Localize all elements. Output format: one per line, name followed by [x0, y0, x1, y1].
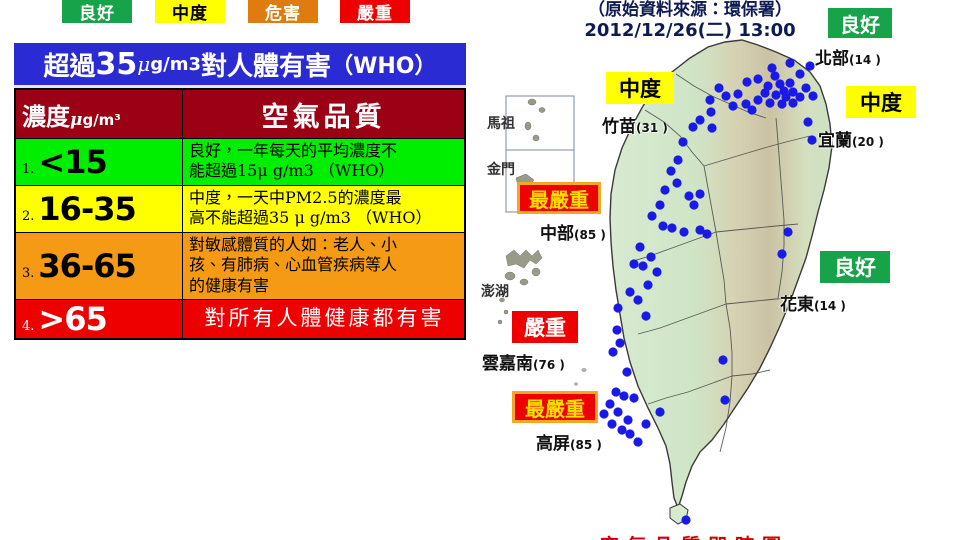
station-dot — [635, 242, 644, 251]
station-dot — [765, 98, 774, 107]
who-threshold-banner: 超過35μg/m3對人體有害（WHO） — [14, 43, 466, 88]
station-dot — [619, 391, 628, 400]
pm25-scale-table: 濃度μg/m³ 空氣品質 1.<15 良好，一年每天的平均濃度不 能超過15μ … — [14, 88, 466, 340]
station-dot — [777, 249, 786, 258]
station-dot — [803, 117, 812, 126]
region-label-huadong: 花東(14 ) — [780, 290, 846, 315]
region-name: 中部 — [540, 224, 574, 244]
table-row: 3.36-65 對敏感體質的人如：老人、小 孩、有肺病、心血管疾病等人 的健康有… — [15, 232, 465, 299]
row-desc-line: 中度，一天中PM2.5的濃度最 — [189, 188, 460, 208]
banner-threshold: 35 — [96, 47, 138, 82]
station-dot — [607, 419, 616, 428]
station-dot — [770, 71, 779, 80]
station-dot — [805, 61, 814, 70]
taiwan-island-shape — [610, 40, 832, 508]
station-dot — [733, 89, 742, 98]
legend-badge-harmful: 危害 — [248, 0, 318, 23]
callout-kaoping-status: 最嚴重 — [512, 391, 598, 423]
row-rank: 4. — [22, 319, 34, 334]
legend-badge-moderate: 中度 — [155, 0, 225, 23]
station-dot — [684, 191, 693, 200]
bottom-clipped-caption: 空氣品質即時圖 — [600, 531, 820, 540]
station-dot — [695, 115, 704, 124]
table-body: 1.<15 良好，一年每天的平均濃度不 能超過15μ g/m3 （WHO） 2.… — [15, 139, 465, 340]
station-dot — [647, 211, 656, 220]
station-dot — [608, 347, 617, 356]
row-rank: 1. — [22, 162, 34, 177]
banner-prefix: 超過 — [44, 46, 96, 83]
station-dot — [652, 267, 661, 276]
banner-who-source: （WHO） — [331, 48, 436, 80]
row-range-value: 36-65 — [38, 247, 135, 285]
header-mu-symbol: μ — [70, 110, 82, 130]
row-description-cell: 良好，一年每天的平均濃度不 能超過15μ g/m3 （WHO） — [183, 139, 466, 186]
station-dot — [783, 227, 792, 236]
row-description-cell: 對敏感體質的人如：老人、小 孩、有肺病、心血管疾病等人 的健康有害 — [183, 232, 466, 299]
header-concentration-unit: g/m³ — [82, 111, 120, 129]
table-row: 1.<15 良好，一年每天的平均濃度不 能超過15μ g/m3 （WHO） — [15, 139, 465, 186]
row-range-cell: 3.36-65 — [15, 232, 183, 299]
region-label-yunchianan: 雲嘉南(76 ) — [482, 349, 565, 374]
station-dot — [667, 223, 676, 232]
row-desc-line: 能超過15μ g/m3 （WHO） — [189, 161, 460, 181]
table-row: 2.16-35 中度，一天中PM2.5的濃度最 高不能超過35 μ g/m3 （… — [15, 185, 465, 232]
station-dot — [695, 189, 704, 198]
banner-suffix: 對人體有害 — [201, 46, 331, 83]
station-dot — [720, 395, 729, 404]
row-range-cell: 1.<15 — [15, 139, 183, 186]
station-dot — [629, 259, 638, 268]
station-dot — [641, 311, 650, 320]
region-name: 竹苗 — [602, 117, 636, 137]
station-dot — [660, 185, 669, 194]
region-name: 北部 — [815, 49, 849, 69]
region-label-north: 北部(14 ) — [815, 44, 881, 69]
station-dot — [785, 78, 794, 87]
callout-huadong-status: 良好 — [820, 251, 890, 283]
station-dot — [613, 303, 622, 312]
callout-north-status: 良好 — [828, 8, 892, 38]
row-desc-line: 高不能超過35 μ g/m3 （WHO） — [189, 208, 460, 228]
station-dot — [641, 419, 650, 428]
row-desc-line: 的健康有害 — [189, 276, 460, 296]
table-header-row: 濃度μg/m³ 空氣品質 — [15, 89, 465, 139]
row-rank: 2. — [22, 209, 34, 224]
table-row: 4.>65 對所有人體健康都有害 — [15, 300, 465, 340]
island-label-penghu: 澎湖 — [481, 281, 509, 301]
station-dot — [705, 95, 714, 104]
station-dot — [613, 407, 622, 416]
station-dot — [638, 261, 647, 270]
header-air-quality: 空氣品質 — [183, 89, 466, 139]
station-dot — [785, 58, 794, 67]
station-dot — [617, 425, 626, 434]
station-dot — [747, 105, 756, 114]
row-range-value: <15 — [38, 143, 106, 181]
row-rank: 3. — [22, 266, 34, 281]
row-desc-line: 對敏感體質的人如：老人、小 — [189, 235, 460, 255]
station-dot — [658, 221, 667, 230]
station-dot — [612, 325, 621, 334]
station-dot — [706, 107, 715, 116]
region-label-yilan: 宜蘭(20 ) — [818, 126, 884, 151]
station-dot — [633, 295, 642, 304]
callout-yunchianan-status: 嚴重 — [512, 311, 578, 343]
callout-central-status: 最嚴重 — [517, 182, 601, 214]
station-dot — [646, 252, 655, 261]
row-desc-line: 孩、有肺病、心血管疾病等人 — [189, 255, 460, 275]
station-dot — [625, 429, 634, 438]
station-dot — [689, 200, 698, 209]
region-count: (85 ) — [574, 228, 606, 242]
row-desc-line: 對所有人體健康都有害 — [189, 305, 460, 332]
slide-root: 良好 中度 危害 嚴重 超過35μg/m3對人體有害（WHO） 濃度μg/m³ … — [0, 0, 964, 540]
station-dot — [599, 409, 608, 418]
station-dot — [655, 200, 664, 209]
region-count: (85 ) — [570, 438, 602, 452]
station-dot — [721, 91, 730, 100]
station-dot — [702, 229, 711, 238]
region-name: 花東 — [780, 295, 814, 315]
region-label-chumiao: 竹苗(31 ) — [602, 112, 668, 137]
station-dot — [788, 98, 797, 107]
region-name: 高屏 — [536, 434, 570, 454]
taiwan-map-panel: （原始資料來源：環保署） 2012/12/26(二) 13:00 — [480, 0, 964, 540]
legend-badge-severe: 嚴重 — [340, 0, 410, 23]
callout-chumiao-status: 中度 — [606, 72, 674, 104]
region-label-kaoping: 高屏(85 ) — [536, 429, 602, 454]
banner-mu-symbol: μ — [137, 52, 150, 76]
row-desc-line: 良好，一年每天的平均濃度不 — [189, 141, 460, 161]
station-dot — [605, 399, 614, 408]
banner-unit: g/m3 — [150, 54, 201, 75]
station-dot — [742, 77, 751, 86]
station-dot — [673, 155, 682, 164]
station-dot — [707, 123, 716, 132]
station-dot — [795, 69, 804, 78]
station-dot — [807, 135, 816, 144]
callout-yilan-status: 中度 — [846, 86, 916, 118]
station-dot — [666, 166, 675, 175]
header-concentration-text: 濃度 — [22, 102, 70, 131]
row-range-value: 16-35 — [38, 190, 135, 228]
station-dot — [801, 83, 810, 92]
row-description-cell: 中度，一天中PM2.5的濃度最 高不能超過35 μ g/m3 （WHO） — [183, 185, 466, 232]
station-dot — [771, 90, 780, 99]
station-dot — [688, 122, 697, 131]
row-description-cell: 對所有人體健康都有害 — [183, 300, 466, 340]
station-dot — [622, 367, 631, 376]
outlying-specks — [574, 368, 587, 386]
station-dot — [767, 63, 776, 72]
station-dot — [615, 338, 624, 347]
station-dot — [678, 137, 687, 146]
header-concentration: 濃度μg/m³ — [15, 89, 183, 139]
station-dot — [718, 355, 727, 364]
island-label-kinmen: 金門 — [487, 159, 515, 179]
region-label-central: 中部(85 ) — [540, 219, 606, 244]
row-range-cell: 2.16-35 — [15, 185, 183, 232]
row-range-cell: 4.>65 — [15, 300, 183, 340]
region-name: 宜蘭 — [818, 131, 852, 151]
station-dot — [623, 415, 632, 424]
region-count: (76 ) — [533, 358, 565, 372]
station-dot — [728, 101, 737, 110]
region-count: (14 ) — [849, 53, 881, 67]
island-label-matsu: 馬祖 — [487, 113, 515, 133]
taiwan-map-svg — [480, 0, 964, 540]
station-dot — [777, 99, 786, 108]
station-dot — [672, 178, 681, 187]
station-dot — [714, 83, 723, 92]
station-dot — [633, 437, 642, 446]
region-count: (20 ) — [852, 135, 884, 149]
region-count: (14 ) — [814, 299, 846, 313]
region-name: 雲嘉南 — [482, 354, 533, 374]
station-dot — [625, 287, 634, 296]
station-dot — [679, 227, 688, 236]
station-dot — [753, 95, 762, 104]
station-dot — [629, 393, 638, 402]
legend-badge-good: 良好 — [62, 0, 132, 23]
station-dot — [643, 280, 652, 289]
station-dot — [753, 74, 762, 83]
station-dot — [795, 92, 804, 101]
station-dot — [655, 407, 664, 416]
row-range-value: >65 — [38, 300, 106, 338]
station-dot — [760, 88, 769, 97]
station-dot — [611, 387, 620, 396]
matsu-islands — [525, 99, 545, 141]
region-count: (31 ) — [636, 121, 668, 135]
station-dot — [808, 91, 817, 100]
station-dot — [681, 515, 690, 524]
